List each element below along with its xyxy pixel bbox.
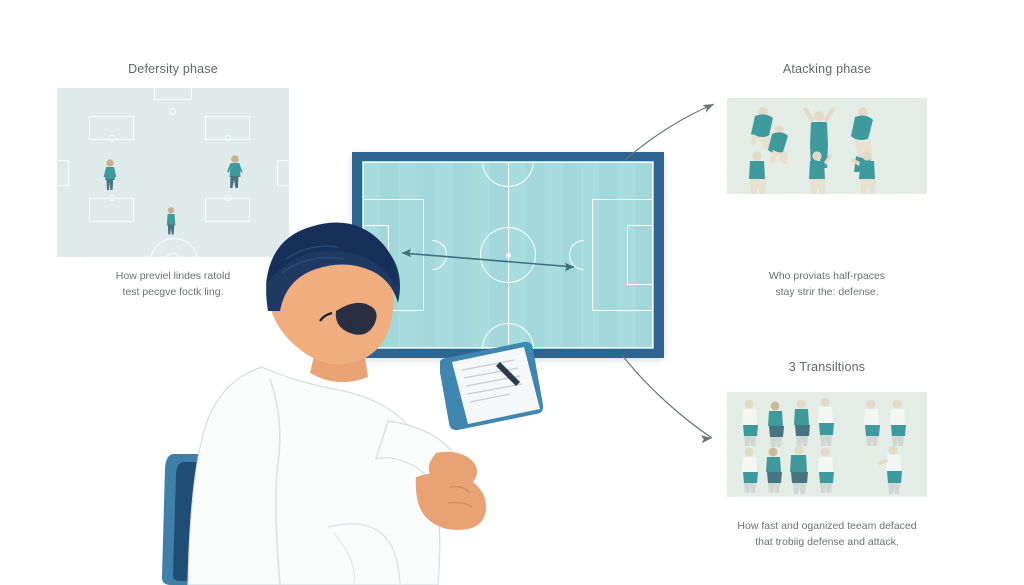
player-figure [794, 400, 810, 446]
transition-players-group [727, 392, 927, 497]
right-top-caption-line-1: Who proviats half-rpaces [717, 268, 937, 284]
player-figure [749, 151, 766, 194]
right-bottom-caption-line-2: that trobiig defense and attack. [697, 534, 957, 550]
right-bottom-panel-title: 3 Transiltions [727, 360, 927, 374]
right-top-panel-caption: Who proviats half-rpaces stay strir the:… [717, 268, 937, 301]
player-figure [742, 400, 758, 446]
player-figure [790, 446, 808, 494]
player-figure [818, 448, 834, 493]
player-figure [851, 151, 876, 194]
attacking-phase-board [727, 98, 927, 194]
right-top-caption-line-2: stay strir the: defense. [717, 284, 937, 300]
right-top-panel-title: Atacking phase [727, 62, 927, 76]
player-figure [864, 400, 880, 446]
player-figure [818, 398, 834, 446]
player-figure [750, 107, 773, 150]
attacking-players-group [727, 98, 927, 194]
mini-player-figure [101, 158, 119, 192]
illustration-canvas: Defersity phase [0, 0, 1024, 585]
transitions-board [727, 392, 927, 497]
player-figure [890, 400, 906, 446]
player-figure [768, 402, 784, 447]
tablet-device[interactable] [440, 340, 550, 440]
player-figure [766, 448, 782, 493]
player-figure [878, 446, 902, 494]
right-bottom-caption-line-1: How fast and oganized teeam defaced [697, 518, 957, 534]
player-figure [768, 125, 788, 164]
left-panel-title: Defersity phase [57, 62, 289, 76]
mini-player-figure [225, 154, 245, 190]
right-bottom-panel-caption: How fast and oganized teeam defaced that… [697, 518, 957, 551]
player-figure [742, 448, 758, 493]
